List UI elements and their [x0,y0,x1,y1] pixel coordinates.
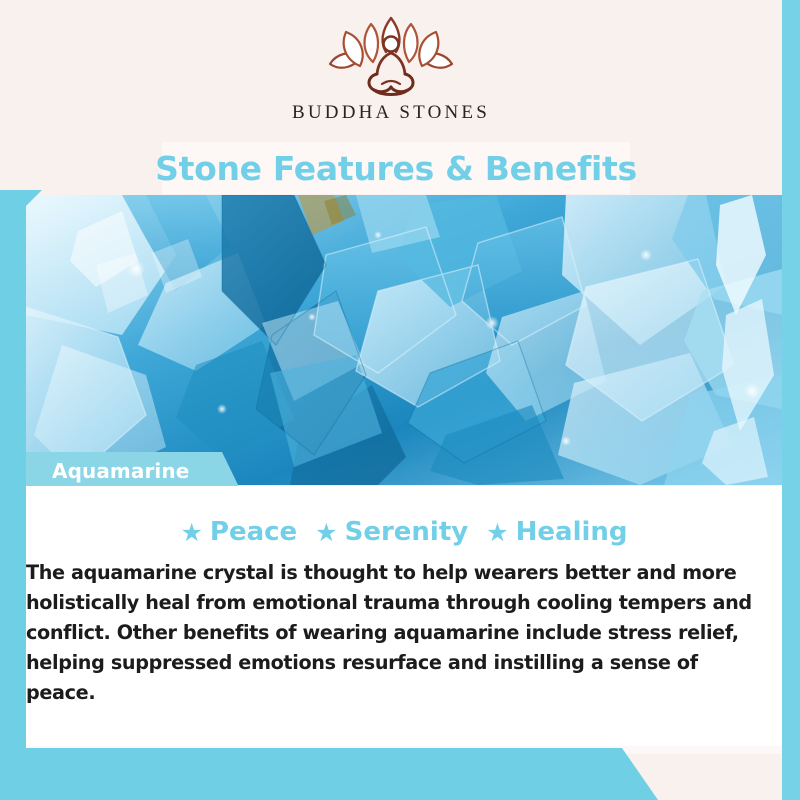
keyword-item-peace: ★ Peace [180,517,297,547]
page-title: Stone Features & Benefits [162,142,630,194]
keyword-item-healing: ★ Healing [486,517,627,547]
star-icon: ★ [315,520,337,545]
keyword-list: ★ Peace ★ Serenity ★ Healing [26,512,782,552]
crystal-photo [26,195,782,485]
frame-left-bar [0,190,26,750]
frame-right-bar [782,0,800,800]
keyword-label: Serenity [345,517,469,547]
lotus-meditation-figure-icon [316,14,466,100]
frame-bottom-bar [0,748,622,800]
star-icon: ★ [486,520,508,545]
aquamarine-crystal-image [26,195,782,485]
poster-canvas: BUDDHA STONES Stone Features & Benefits [0,0,800,800]
stone-name-banner-bevel [222,452,240,489]
brand-name: BUDDHA STONES [292,102,490,124]
description-text: The aquamarine crystal is thought to hel… [26,558,756,708]
keyword-item-serenity: ★ Serenity [315,517,468,547]
frame-left-bar-notch [26,190,42,206]
frame-bottom-bar-bevel [622,748,658,800]
stone-name: Aquamarine [52,452,189,489]
keyword-label: Healing [516,517,628,547]
brand-logo: BUDDHA STONES [0,14,782,124]
star-icon: ★ [180,520,202,545]
keyword-label: Peace [210,517,297,547]
